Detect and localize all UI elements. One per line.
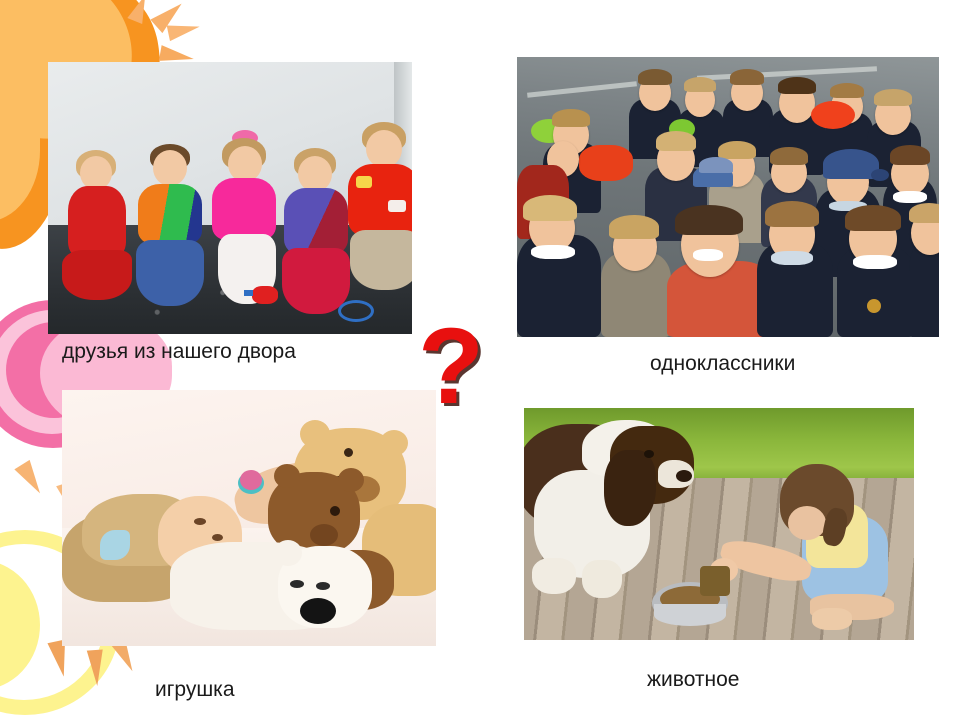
caption-animal: животное (647, 668, 740, 692)
photo-animal[interactable] (524, 408, 914, 640)
sun-ray-icon-8 (87, 649, 105, 686)
slide-canvas: ? друзья из нашего двора одноклассники и… (0, 0, 960, 720)
caption-toy: игрушка (155, 678, 235, 702)
yellow-sun-ring-shape (0, 560, 40, 690)
photo-yard-friends[interactable] (48, 62, 412, 334)
caption-classmates: одноклассники (650, 352, 795, 376)
orange-sun-tail-inner-shape (0, 92, 40, 222)
photo-toy[interactable] (62, 390, 436, 646)
sun-ray-icon-1 (150, 0, 187, 33)
sun-ray-icon-4 (127, 0, 152, 24)
photo-classmates[interactable] (517, 57, 939, 337)
question-mark-icon: ? (418, 312, 482, 420)
caption-yard-friends: друзья из нашего двора (62, 340, 296, 364)
sun-ray-icon-5 (14, 460, 47, 498)
sun-ray-icon-2 (167, 19, 202, 41)
